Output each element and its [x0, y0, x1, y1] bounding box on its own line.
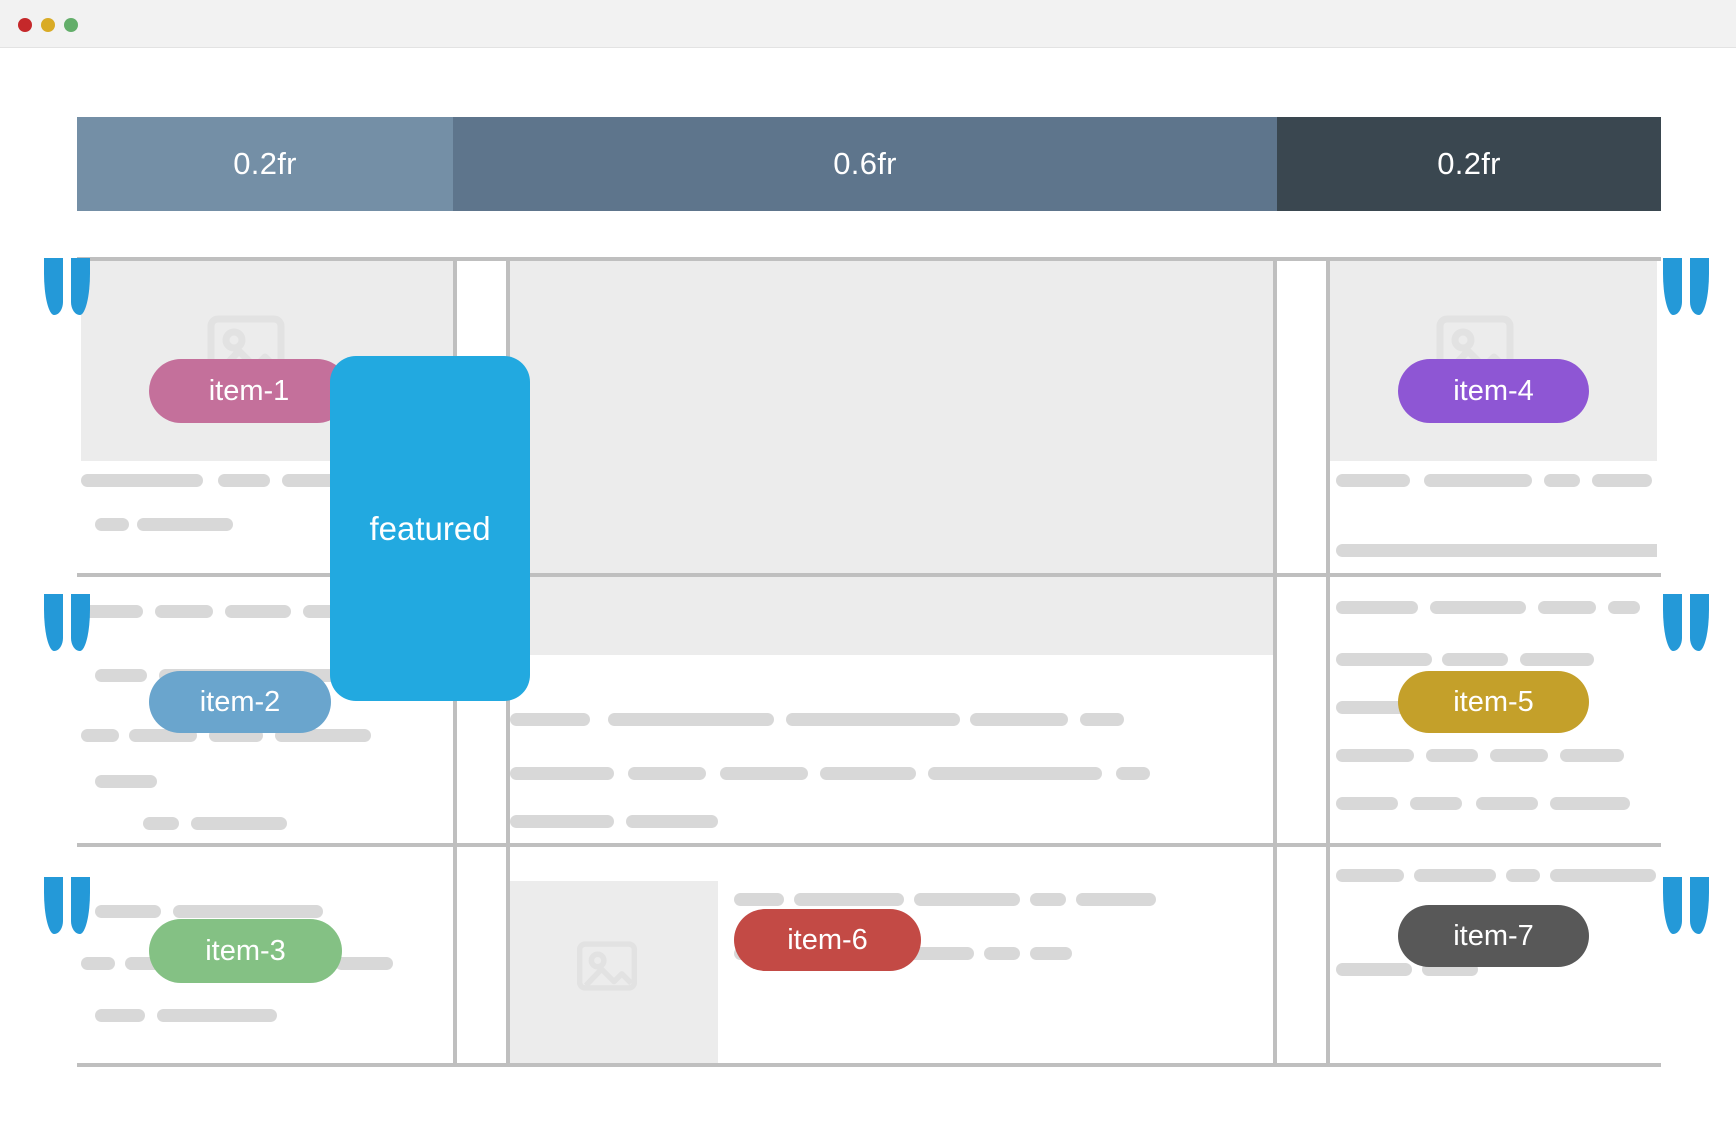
item-pill-label: item-6 [787, 924, 868, 957]
featured-card-label: featured [369, 510, 490, 548]
skeleton-bar [608, 713, 774, 726]
skeleton-bar [510, 767, 614, 780]
skeleton-bar [1520, 653, 1594, 666]
skeleton-bar [1336, 474, 1410, 487]
window-titlebar [0, 0, 1736, 48]
quote-mark-icon [1663, 877, 1682, 934]
gridline-horizontal-row2 [77, 843, 1661, 847]
item-pill-item-3[interactable]: item-3 [149, 919, 342, 983]
grid-cell-r3c3[interactable]: item-7 [1330, 847, 1657, 1063]
skeleton-bar [95, 775, 157, 788]
image-placeholder-block [510, 577, 1273, 655]
skeleton-bar [914, 893, 1020, 906]
skeleton-bar [1506, 869, 1540, 882]
item-pill-item-7[interactable]: item-7 [1398, 905, 1589, 967]
image-placeholder-block [510, 881, 718, 1063]
skeleton-bar [510, 815, 614, 828]
gridline-vertical-col3-start [1326, 257, 1330, 1067]
skeleton-bar [1336, 544, 1657, 557]
item-pill-label: item-4 [1453, 375, 1534, 408]
skeleton-bar [734, 893, 784, 906]
item-pill-item-4[interactable]: item-4 [1398, 359, 1589, 423]
skeleton-bar [157, 1009, 277, 1022]
grid-cell-r1c3[interactable]: item-4 [1330, 261, 1657, 573]
quote-mark-icon [1690, 258, 1709, 315]
legend-column-3-label: 0.2fr [1437, 146, 1501, 182]
skeleton-bar [794, 893, 904, 906]
skeleton-bar [1030, 947, 1072, 960]
skeleton-bar [984, 947, 1020, 960]
skeleton-bar [218, 474, 270, 487]
skeleton-bar [928, 767, 1102, 780]
skeleton-bar [820, 767, 916, 780]
skeleton-bar [1550, 797, 1630, 810]
skeleton-bar [1030, 893, 1066, 906]
gridline-horizontal-top [77, 257, 1661, 261]
skeleton-bar [143, 817, 179, 830]
minimize-window-button[interactable] [41, 18, 55, 32]
maximize-window-button[interactable] [64, 18, 78, 32]
skeleton-bar [1544, 474, 1580, 487]
legend-column-1: 0.2fr [77, 117, 453, 211]
skeleton-bar [1076, 893, 1156, 906]
item-pill-item-2[interactable]: item-2 [149, 671, 331, 733]
close-window-button[interactable] [18, 18, 32, 32]
item-pill-label: item-1 [209, 375, 290, 408]
skeleton-bar [1560, 749, 1624, 762]
skeleton-bar [191, 817, 287, 830]
skeleton-bar [1490, 749, 1548, 762]
gridline-horizontal-bottom [77, 1063, 1661, 1067]
skeleton-bar [1116, 767, 1150, 780]
skeleton-bar [626, 815, 718, 828]
legend-column-2-label: 0.6fr [833, 146, 897, 182]
skeleton-bar [81, 605, 143, 618]
skeleton-bar [1336, 963, 1412, 976]
featured-card[interactable]: featured [330, 356, 530, 701]
item-pill-label: item-5 [1453, 686, 1534, 719]
gridline-vertical-col2-end [1273, 257, 1277, 1067]
skeleton-bar [1424, 474, 1532, 487]
skeleton-bar [720, 767, 808, 780]
quote-mark-icon [44, 594, 63, 651]
skeleton-bar [1430, 601, 1526, 614]
skeleton-bar [970, 713, 1068, 726]
skeleton-bar [81, 957, 115, 970]
skeleton-bar [1426, 749, 1478, 762]
skeleton-bar [1336, 653, 1432, 666]
traffic-lights [18, 18, 78, 32]
quote-mark-icon [1663, 258, 1682, 315]
gridline-horizontal-row1 [77, 573, 1661, 577]
item-pill-label: item-3 [205, 935, 286, 968]
quote-mark-icon [44, 258, 63, 315]
skeleton-bar [510, 713, 590, 726]
quote-mark-icon [1690, 877, 1709, 934]
skeleton-bar [335, 957, 393, 970]
legend-column-3: 0.2fr [1277, 117, 1661, 211]
skeleton-bar [1336, 869, 1404, 882]
skeleton-bar [1336, 749, 1414, 762]
skeleton-bar [1592, 474, 1652, 487]
quote-mark-icon [44, 877, 63, 934]
column-track-legend: 0.2fr 0.6fr 0.2fr [77, 117, 1661, 211]
skeleton-bar [1608, 601, 1640, 614]
skeleton-bar [1336, 601, 1418, 614]
quote-mark-icon [1690, 594, 1709, 651]
skeleton-bar [1336, 797, 1398, 810]
skeleton-bar [155, 605, 213, 618]
skeleton-bar [137, 518, 233, 531]
item-pill-item-5[interactable]: item-5 [1398, 671, 1589, 733]
legend-column-2: 0.6fr [453, 117, 1277, 211]
skeleton-bar [628, 767, 706, 780]
skeleton-bar [81, 474, 203, 487]
grid-cell-r2c2[interactable] [510, 577, 1273, 843]
grid-cell-r1c2[interactable] [510, 261, 1273, 573]
skeleton-bar [95, 1009, 145, 1022]
skeleton-bar [95, 669, 147, 682]
skeleton-bar [786, 713, 960, 726]
quote-mark-icon [1663, 594, 1682, 651]
skeleton-bar [1414, 869, 1496, 882]
legend-column-1-label: 0.2fr [233, 146, 297, 182]
grid-cell-r3c1[interactable]: item-3 [81, 847, 453, 1063]
image-placeholder-icon [576, 941, 638, 991]
image-placeholder-block [510, 261, 1273, 573]
skeleton-bar [1476, 797, 1538, 810]
grid-cell-r3c2[interactable]: item-6 [510, 847, 1273, 1063]
grid-cell-r2c3[interactable]: item-5 [1330, 577, 1657, 843]
skeleton-bar [81, 729, 119, 742]
skeleton-bar [95, 518, 129, 531]
item-pill-item-6[interactable]: item-6 [734, 909, 921, 971]
item-pill-item-1[interactable]: item-1 [149, 359, 349, 423]
item-pill-label: item-7 [1453, 920, 1534, 953]
grid-canvas: item-1 item-4 [77, 257, 1661, 1067]
skeleton-bar [225, 605, 291, 618]
skeleton-bar [1550, 869, 1656, 882]
skeleton-bar [1080, 713, 1124, 726]
skeleton-bar [1538, 601, 1596, 614]
skeleton-bar [173, 905, 323, 918]
skeleton-bar [1410, 797, 1462, 810]
skeleton-bar [1442, 653, 1508, 666]
skeleton-bar [95, 905, 161, 918]
item-pill-label: item-2 [200, 686, 281, 719]
